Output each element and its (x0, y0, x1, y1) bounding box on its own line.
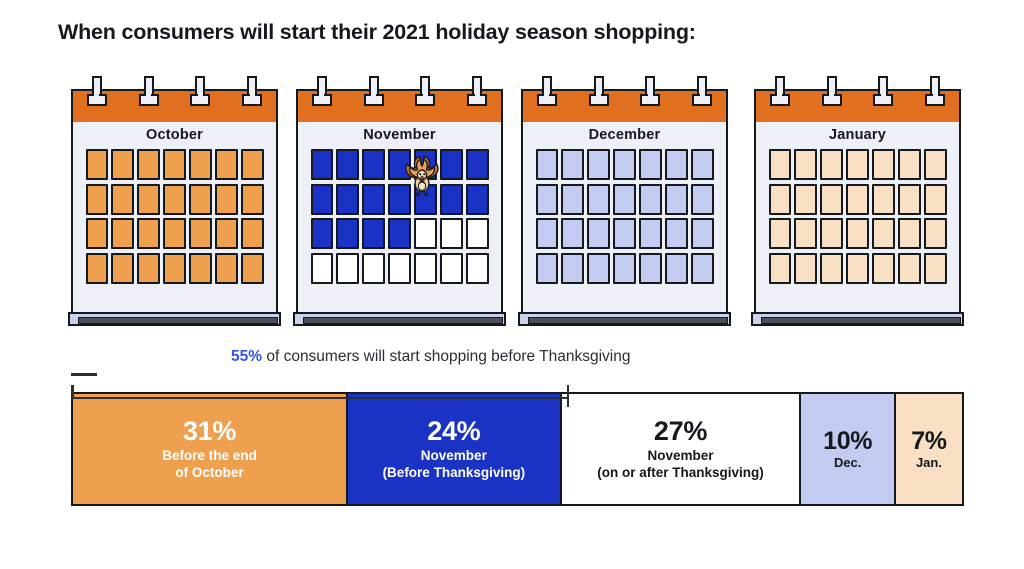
calendar-day-cell (111, 184, 134, 215)
calendar-month-label: January (756, 127, 959, 143)
calendar-day-cell (189, 218, 212, 249)
calendar-january: January (754, 76, 961, 328)
segment-label: Before the endof October (162, 448, 257, 481)
calendar-day-cell (665, 253, 688, 284)
calendar-day-cell (924, 218, 947, 249)
annotation-text: 55% of consumers will start shopping bef… (231, 348, 631, 366)
calendar-body: December (521, 122, 728, 314)
segment-percent: 7% (911, 428, 947, 454)
calendar-day-cell (872, 253, 895, 284)
calendar-day-cell (820, 184, 843, 215)
segment-percent: 10% (823, 428, 872, 454)
calendar-day-cell (691, 184, 714, 215)
calendar-base-shadow (78, 317, 278, 324)
calendar-base-shadow (761, 317, 961, 324)
calendar-day-cell (163, 149, 186, 180)
calendar-day-cell (336, 149, 359, 180)
calendar-day-cell (466, 253, 489, 284)
calendar-month-label: October (73, 127, 276, 143)
calendar-day-cell (587, 149, 610, 180)
infographic-canvas: When consumers will start their 2021 hol… (0, 0, 1024, 569)
calendar-november: November (296, 76, 503, 328)
calendar-month-label: December (523, 127, 726, 143)
calendar-day-cell (86, 253, 109, 284)
calendar-day-cell (898, 149, 921, 180)
calendar-day-cell (440, 218, 463, 249)
calendar-day-cell (536, 218, 559, 249)
calendar-body: November (296, 122, 503, 314)
calendar-header-band (754, 89, 961, 124)
bracket-before-thanksgiving (71, 373, 569, 399)
calendar-day-cell (561, 184, 584, 215)
calendar-header-band (296, 89, 503, 124)
calendar-day-cell (820, 149, 843, 180)
calendar-day-cell (336, 184, 359, 215)
calendar-day-cell (691, 149, 714, 180)
calendar-day-cell (691, 218, 714, 249)
segment-label: November(on or after Thanksgiving) (597, 448, 764, 481)
segment-january: 7%Jan. (896, 394, 962, 504)
segment-label: Dec. (834, 455, 861, 471)
calendar-day-cell (189, 149, 212, 180)
calendar-day-cell (561, 218, 584, 249)
calendar-day-cell (561, 253, 584, 284)
calendar-day-cell (924, 253, 947, 284)
calendar-day-cell (241, 149, 264, 180)
segment-label: November(Before Thanksgiving) (383, 448, 526, 481)
calendar-day-cell (362, 253, 385, 284)
segment-percent: 24% (427, 417, 480, 445)
calendar-base (518, 312, 731, 328)
calendar-day-cell (639, 184, 662, 215)
calendar-day-cell (846, 218, 869, 249)
calendar-base-shadow (303, 317, 503, 324)
segment-december: 10%Dec. (801, 394, 896, 504)
calendar-day-cell (311, 149, 334, 180)
calendar-day-cell (241, 184, 264, 215)
segment-november-on-or-after-thanksgiving: 27%November(on or after Thanksgiving) (562, 394, 802, 504)
calendar-day-cell (872, 149, 895, 180)
calendar-day-cell (924, 184, 947, 215)
calendar-day-cell (639, 149, 662, 180)
calendar-day-cell (820, 218, 843, 249)
calendar-day-cell (137, 184, 160, 215)
calendar-day-cell (215, 184, 238, 215)
calendar-day-cell (639, 253, 662, 284)
calendar-day-cell (794, 218, 817, 249)
calendar-day-cell (241, 218, 264, 249)
calendar-day-cell (466, 218, 489, 249)
calendar-day-cell (111, 149, 134, 180)
calendar-day-grid (536, 149, 714, 284)
calendar-day-cell (440, 253, 463, 284)
calendar-day-cell (362, 184, 385, 215)
calendar-day-cell (336, 218, 359, 249)
calendar-day-cell (665, 218, 688, 249)
annotation-body: of consumers will start shopping before … (262, 348, 630, 365)
page-title: When consumers will start their 2021 hol… (58, 20, 696, 45)
calendar-day-cell (388, 218, 411, 249)
calendar-day-cell (215, 218, 238, 249)
calendar-day-cell (587, 253, 610, 284)
calendar-day-cell (769, 184, 792, 215)
calendar-base (293, 312, 506, 328)
calendar-day-cell (536, 184, 559, 215)
calendar-day-cell (794, 149, 817, 180)
calendar-day-cell (794, 253, 817, 284)
calendar-day-cell (163, 253, 186, 284)
calendar-base (751, 312, 964, 328)
calendar-day-cell (846, 253, 869, 284)
calendar-day-cell (613, 184, 636, 215)
segment-percent: 31% (183, 417, 236, 445)
calendar-day-cell (613, 218, 636, 249)
calendar-day-cell (769, 253, 792, 284)
bracket-right-arm (567, 385, 570, 407)
calendar-day-cell (163, 218, 186, 249)
bracket-tick (71, 373, 97, 376)
calendar-day-grid (86, 149, 264, 284)
bracket-span-line (71, 397, 569, 400)
calendar-day-cell (613, 149, 636, 180)
calendar-header-band (71, 89, 278, 124)
calendar-day-cell (536, 149, 559, 180)
calendar-body: October (71, 122, 278, 314)
calendar-day-cell (189, 184, 212, 215)
calendar-day-cell (872, 184, 895, 215)
calendar-day-cell (466, 184, 489, 215)
calendar-day-cell (137, 253, 160, 284)
calendar-day-cell (111, 218, 134, 249)
segment-label: Jan. (916, 455, 942, 471)
calendar-day-cell (898, 218, 921, 249)
calendar-day-cell (86, 149, 109, 180)
stacked-bar-chart: 31%Before the endof October24%November(B… (71, 392, 964, 506)
calendar-day-cell (466, 149, 489, 180)
calendar-day-cell (846, 184, 869, 215)
calendar-day-grid (769, 149, 947, 284)
calendar-day-cell (769, 218, 792, 249)
calendar-header-band (521, 89, 728, 124)
calendar-day-cell (414, 253, 437, 284)
calendar-day-cell (137, 218, 160, 249)
calendar-day-cell (898, 253, 921, 284)
calendar-body: January (754, 122, 961, 314)
calendar-day-cell (587, 184, 610, 215)
calendar-day-cell (846, 149, 869, 180)
segment-before-end-of-october: 31%Before the endof October (73, 394, 348, 504)
calendar-day-cell (311, 184, 334, 215)
calendar-day-cell (111, 253, 134, 284)
calendar-day-cell (872, 218, 895, 249)
calendar-day-cell (311, 253, 334, 284)
calendar-day-cell (561, 149, 584, 180)
calendar-day-cell (665, 149, 688, 180)
calendar-day-cell (924, 149, 947, 180)
calendar-month-label: November (298, 127, 501, 143)
calendar-day-cell (86, 184, 109, 215)
calendar-base-shadow (528, 317, 728, 324)
calendar-day-cell (639, 218, 662, 249)
calendar-day-cell (215, 253, 238, 284)
annotation-highlight: 55% (231, 348, 262, 365)
calendar-day-cell (86, 218, 109, 249)
segment-percent: 27% (654, 417, 707, 445)
calendar-day-cell (536, 253, 559, 284)
turkey-icon (399, 154, 445, 200)
calendar-day-cell (665, 184, 688, 215)
calendar-day-cell (362, 149, 385, 180)
calendar-day-cell (388, 253, 411, 284)
calendar-day-cell (820, 253, 843, 284)
segment-november-before-thanksgiving: 24%November(Before Thanksgiving) (348, 394, 561, 504)
calendar-day-cell (898, 184, 921, 215)
calendar-day-cell (769, 149, 792, 180)
calendar-day-cell (691, 253, 714, 284)
calendar-day-cell (189, 253, 212, 284)
calendar-day-cell (587, 218, 610, 249)
calendar-day-cell (163, 184, 186, 215)
calendar-day-cell (311, 218, 334, 249)
calendar-day-cell (336, 253, 359, 284)
calendar-day-cell (241, 253, 264, 284)
calendar-day-cell (794, 184, 817, 215)
calendar-day-cell (137, 149, 160, 180)
calendar-day-cell (215, 149, 238, 180)
calendar-october: October (71, 76, 278, 328)
calendar-base (68, 312, 281, 328)
calendar-day-cell (362, 218, 385, 249)
calendar-day-cell (414, 218, 437, 249)
calendar-day-cell (613, 253, 636, 284)
calendar-december: December (521, 76, 728, 328)
